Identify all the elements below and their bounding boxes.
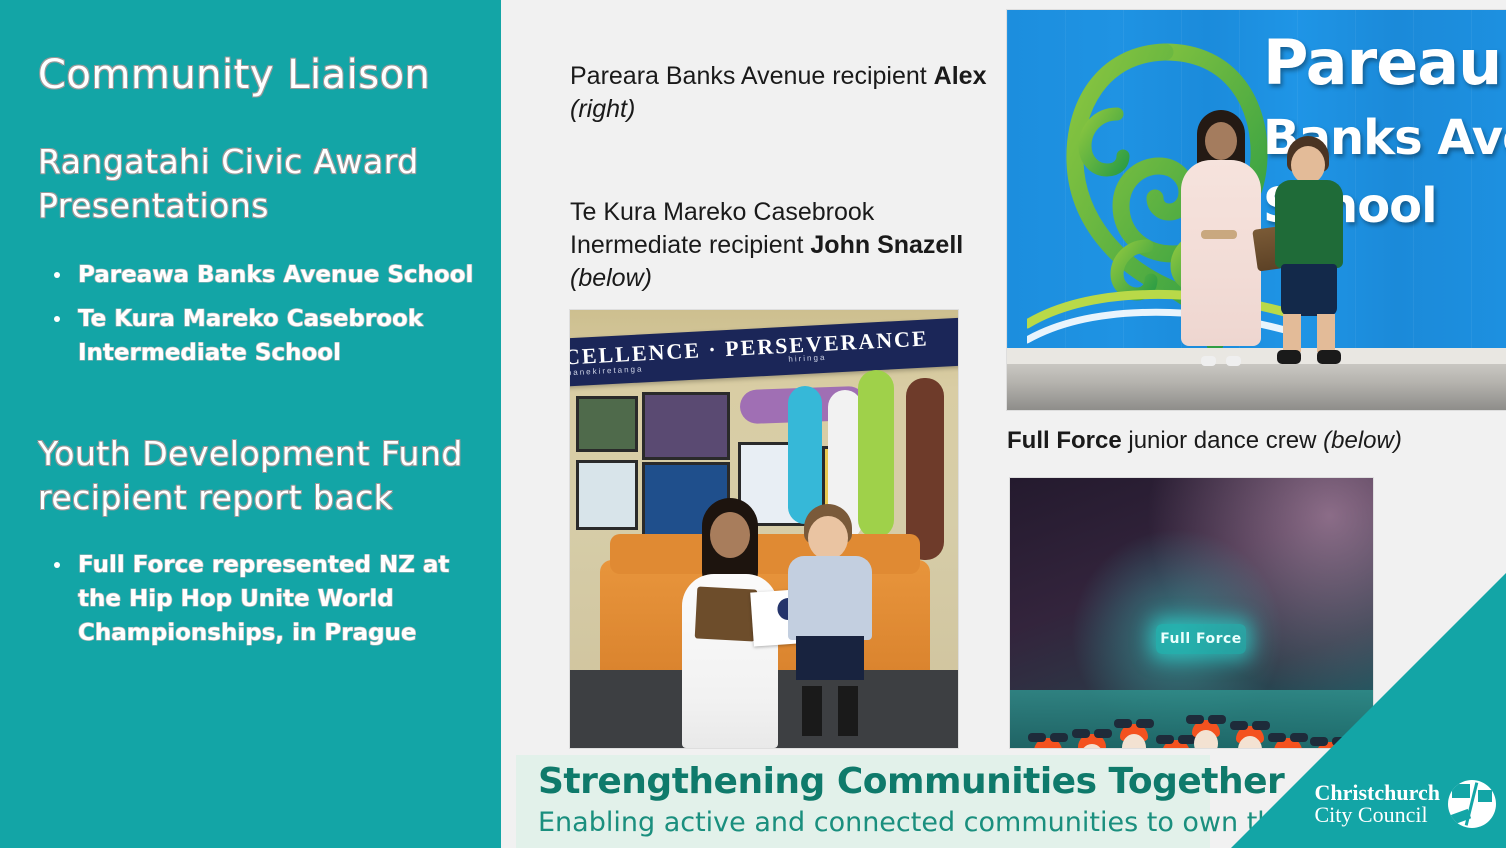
caption-alex-name: Alex (934, 62, 987, 90)
civic-award-bullet-list: Pareawa Banks Avenue School Te Kura Mare… (46, 258, 476, 380)
caption-john-note: (below) (570, 264, 652, 292)
photo-hallway-award: CELLENCE · PERSEVERANCE panekiretanga hi… (570, 310, 958, 748)
sidebar-panel: Community Liaison Rangatahi Civic Award … (0, 0, 501, 848)
artwork-frame (642, 392, 730, 460)
photo-school-boy (1269, 136, 1349, 364)
photo-dance-crew: Full Force (1010, 478, 1373, 748)
caption-alex-line: Pareara Banks Avenue recipient (570, 62, 934, 90)
caption-john-name: John Snazell (810, 231, 963, 259)
logo-text: Christchurch City Council (1315, 782, 1441, 826)
logo-line-1: Christchurch (1315, 782, 1441, 804)
face (1291, 146, 1325, 184)
shorts (1281, 264, 1337, 316)
slide: Community Liaison Rangatahi Civic Award … (0, 0, 1506, 848)
school-shirt (788, 556, 872, 640)
face (710, 512, 750, 558)
caption-full-force-name: Full Force (1007, 427, 1122, 454)
shoe (1277, 350, 1301, 364)
council-emblem-icon (1448, 780, 1496, 828)
face (808, 516, 848, 560)
caption-alex: Pareara Banks Avenue recipient Alex (rig… (570, 60, 1000, 126)
banner-headline: Strengthening Communities Together (538, 761, 1284, 802)
carved-award (695, 586, 758, 641)
photo-school-sign: Pareau Banks Ave School (1007, 10, 1506, 410)
shoes (1201, 340, 1241, 366)
skateboard-deck (906, 378, 944, 560)
full-force-sign: Full Force (1156, 624, 1246, 654)
list-item: Pareawa Banks Avenue School (46, 258, 476, 292)
leg (1283, 314, 1301, 352)
section-heading-civic-award: Rangatahi Civic Award Presentations (38, 140, 468, 228)
sock (802, 686, 822, 736)
sock (838, 686, 858, 736)
caption-alex-note: (right) (570, 95, 635, 123)
artwork-frame (576, 396, 638, 452)
school-sign-line-1: Pareau (1263, 26, 1501, 99)
christchurch-city-council-logo: Christchurch City Council (1315, 780, 1497, 828)
shorts (796, 636, 864, 680)
photo-hallway-boy (782, 504, 878, 748)
caption-full-force-line: junior dance crew (1122, 427, 1323, 454)
dress (1181, 160, 1261, 346)
shoe (1317, 350, 1341, 364)
caption-full-force: Full Force junior dance crew (below) (1007, 424, 1487, 457)
logo-line-2: City Council (1315, 804, 1441, 826)
face (1205, 122, 1237, 160)
artwork-frame (576, 460, 638, 530)
values-banner-sub-right: hiringa (788, 353, 826, 364)
list-item: Te Kura Mareko Casebrook Intermediate Sc… (46, 302, 476, 370)
caption-full-force-note: (below) (1323, 427, 1402, 454)
photo-school-woman (1177, 114, 1265, 364)
caption-john: Te Kura Mareko Casebrook Inermediate rec… (570, 196, 1000, 295)
leg (1317, 314, 1335, 352)
belt (1201, 230, 1237, 239)
youth-fund-bullet-list: Full Force represented NZ at the Hip Hop… (46, 548, 476, 660)
list-item: Full Force represented NZ at the Hip Hop… (46, 548, 476, 650)
section-heading-youth-fund: Youth Development Fund recipient report … (38, 432, 478, 520)
strengthening-communities-banner: Strengthening Communities Together Enabl… (516, 755, 1210, 848)
photo-school-ground (1007, 364, 1506, 410)
page-title: Community Liaison (38, 52, 430, 98)
school-shirt (1275, 180, 1343, 268)
